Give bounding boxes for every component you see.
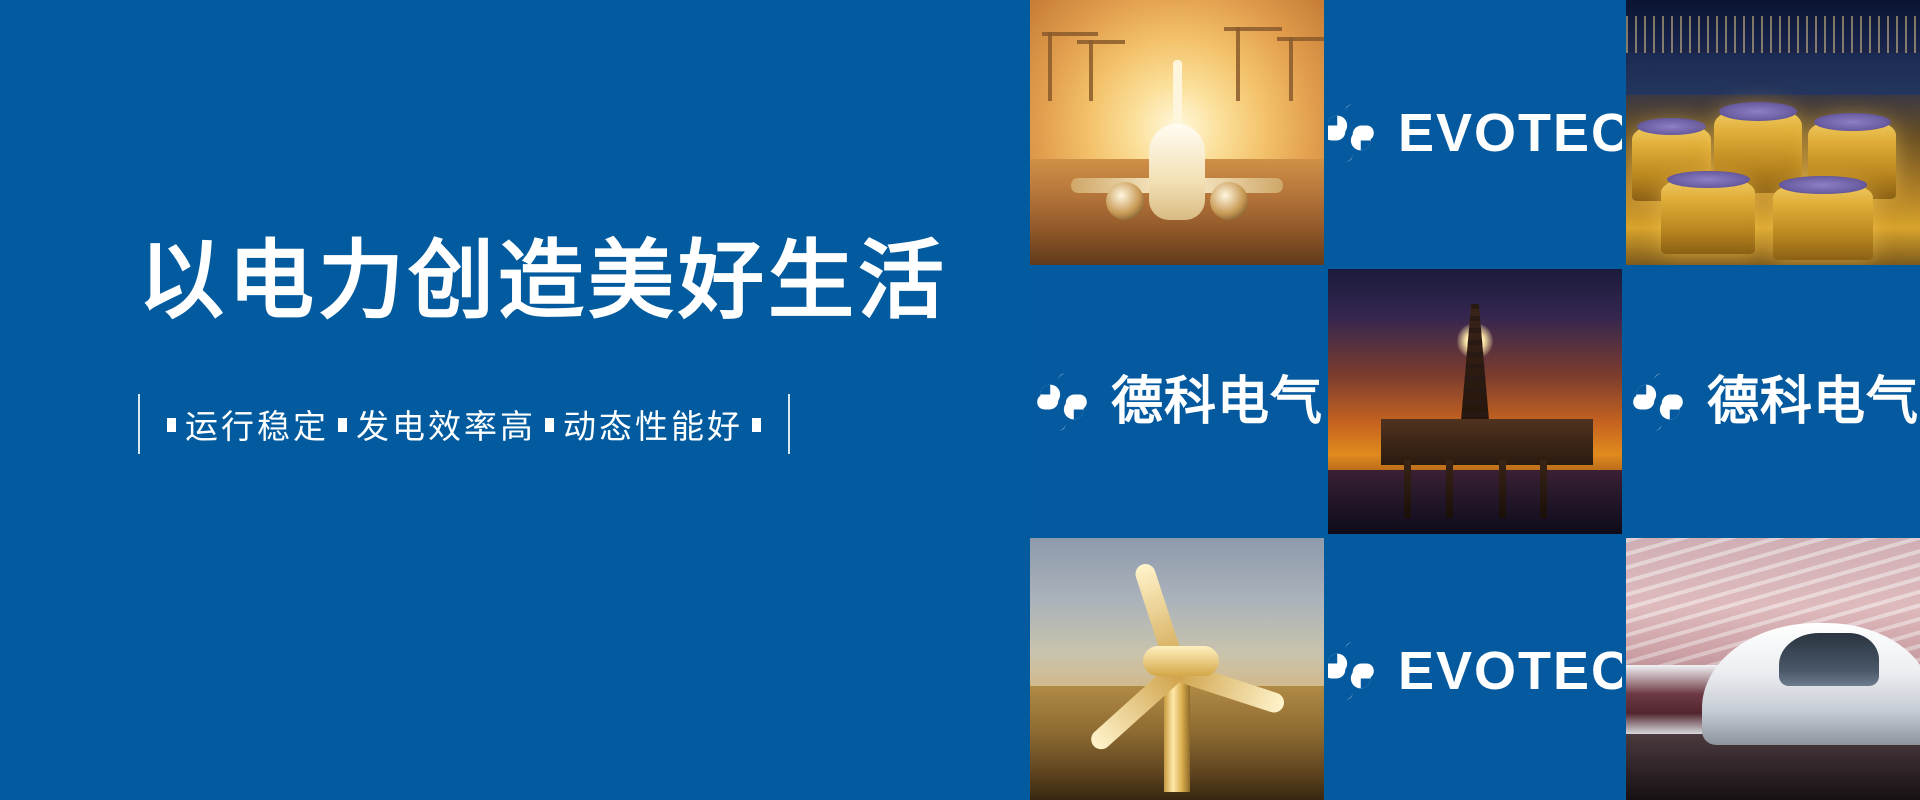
- brand-lockup-cn: 德科电气: [1627, 371, 1919, 433]
- brand-wordmark-en: EVOTEC: [1398, 106, 1622, 160]
- divider-right: [788, 394, 790, 454]
- oil-tank-farm-scene-image: [1626, 0, 1920, 265]
- brand-lockup-en: EVOTEC: [1328, 640, 1622, 702]
- airport-scene-image: [1030, 0, 1324, 265]
- image-logo-grid: EVOTEC: [1030, 0, 1920, 800]
- brand-wordmark-cn: 德科电气: [1111, 376, 1323, 428]
- tile-photo-oil-tanks: [1626, 0, 1920, 265]
- high-speed-train-scene-image: [1626, 538, 1920, 800]
- bullet-square-icon: [167, 418, 176, 432]
- bullet-square-icon: [752, 418, 761, 432]
- offshore-oil-rig-scene-image: [1328, 269, 1622, 534]
- page-title: 以电力创造美好生活: [138, 236, 958, 327]
- brand-wordmark-en: EVOTEC: [1398, 644, 1622, 698]
- tile-photo-oil-rig: [1328, 269, 1622, 534]
- brand-lockup-en: EVOTEC: [1328, 102, 1622, 164]
- feature-list-items: 运行稳定 发电效率高 动态性能好: [140, 400, 788, 448]
- evotec-pinwheel-logo-icon: [1031, 371, 1093, 433]
- feature-item-1: 运行稳定: [185, 400, 329, 448]
- brand-lockup-cn: 德科电气: [1031, 371, 1323, 433]
- tile-logo-deke-right: 德科电气: [1626, 269, 1920, 534]
- bullet-square-icon: [338, 418, 347, 432]
- tile-photo-wind-turbine: [1030, 538, 1324, 800]
- tile-logo-evotec-top: EVOTEC: [1328, 0, 1622, 265]
- feature-list: 运行稳定 发电效率高 动态性能好: [138, 393, 958, 455]
- feature-item-2: 发电效率高: [356, 400, 536, 448]
- tile-logo-deke-left: 德科电气: [1030, 269, 1324, 534]
- banner-copy-block: 以电力创造美好生活 运行稳定 发电效率高 动态性能好: [138, 236, 958, 455]
- promo-banner: 以电力创造美好生活 运行稳定 发电效率高 动态性能好: [0, 0, 1920, 800]
- tile-logo-evotec-bottom: EVOTEC: [1328, 538, 1622, 800]
- evotec-pinwheel-logo-icon: [1328, 640, 1380, 702]
- tile-photo-train: [1626, 538, 1920, 800]
- bullet-square-icon: [545, 418, 554, 432]
- wind-turbine-scene-image: [1030, 538, 1324, 800]
- brand-wordmark-cn: 德科电气: [1707, 376, 1919, 428]
- evotec-pinwheel-logo-icon: [1328, 102, 1380, 164]
- feature-item-3: 动态性能好: [563, 400, 743, 448]
- evotec-pinwheel-logo-icon: [1627, 371, 1689, 433]
- tile-photo-airport: [1030, 0, 1324, 265]
